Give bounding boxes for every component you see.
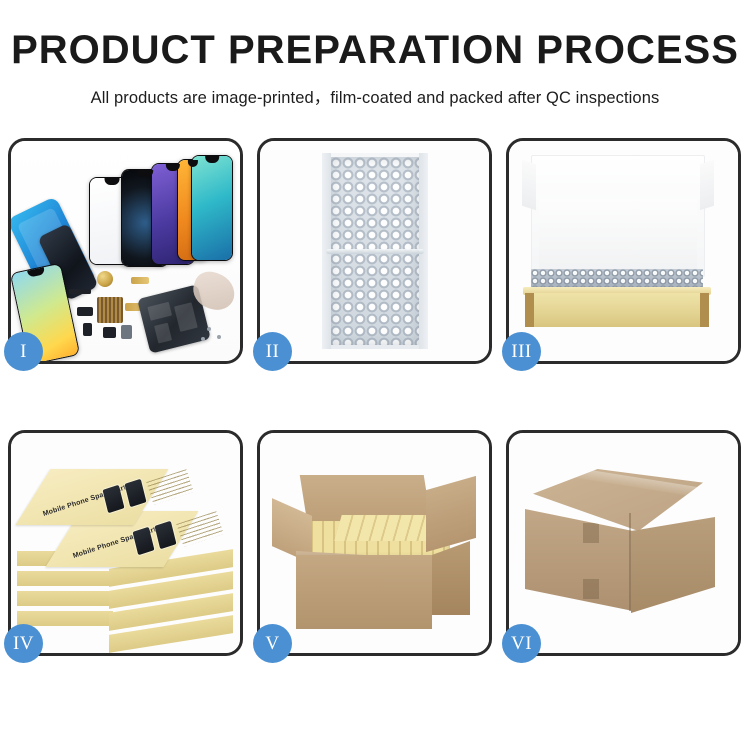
- screw-2: [217, 335, 221, 339]
- product-preparation-infographic: PRODUCT PREPARATION PROCESS All products…: [0, 0, 750, 750]
- part-camera-module: [77, 307, 93, 316]
- step-image-sealed-carton: [509, 433, 738, 653]
- phone-teal: [191, 155, 233, 261]
- step-badge-3: III: [502, 332, 541, 371]
- step-panel-1[interactable]: I: [8, 138, 243, 364]
- bubble-wrap-pouch: [322, 153, 428, 349]
- page-subtitle: All products are image-printed，film-coat…: [0, 84, 750, 108]
- carton-flap-tab-top: [583, 523, 599, 543]
- sealed-shipping-carton: [525, 469, 721, 623]
- part-coin-connector: [97, 271, 113, 287]
- step-badge-6: VI: [502, 624, 541, 663]
- step-image-carton-filling: [260, 433, 489, 653]
- carton-tape-seam: [559, 465, 709, 498]
- step-image-products: [11, 141, 240, 361]
- foam-padding: [539, 199, 697, 273]
- box-front-yellow: [525, 293, 709, 327]
- step-image-bubble-pouch: [260, 141, 489, 361]
- step-image-stacked-boxes: Mobile Phone Spare Parts Mobile Phone Sp…: [11, 433, 240, 653]
- stack-box-edge-2: [17, 571, 113, 586]
- stack-box-edge-3: [17, 591, 113, 606]
- part-grid-module: [97, 297, 123, 323]
- step-badge-2: II: [253, 332, 292, 371]
- step-panel-4[interactable]: Mobile Phone Spare Parts Mobile Phone Sp…: [8, 430, 243, 656]
- step-panel-5[interactable]: V: [257, 430, 492, 656]
- step-badge-1: I: [4, 332, 43, 371]
- screw-3: [201, 337, 205, 341]
- step-panel-6[interactable]: VI: [506, 430, 741, 656]
- stack-box-edge-4: [17, 611, 113, 626]
- step-badge-5: V: [253, 624, 292, 663]
- carton-flap-tab-bottom: [583, 579, 599, 599]
- part-bracket: [121, 325, 132, 339]
- part-strip: [69, 289, 91, 294]
- carton-right-panel: [631, 517, 715, 613]
- process-steps-grid: I II III: [8, 138, 742, 656]
- carton-corner-seam: [629, 513, 631, 611]
- part-vibrator: [103, 327, 116, 338]
- part-flex-cable: [131, 277, 149, 284]
- carton-front-face: [296, 555, 432, 629]
- retail-box-stack: Mobile Phone Spare Parts Mobile Phone Sp…: [17, 455, 235, 645]
- pouch-seal: [326, 249, 424, 254]
- page-title: PRODUCT PREPARATION PROCESS: [0, 30, 750, 70]
- step-image-inner-box: [509, 141, 738, 361]
- carton-flap-right: [426, 476, 476, 552]
- header: PRODUCT PREPARATION PROCESS All products…: [0, 0, 750, 108]
- open-shipping-carton: [274, 463, 472, 629]
- screw-1: [207, 327, 211, 331]
- part-speaker: [83, 323, 92, 336]
- step-badge-4: IV: [4, 624, 43, 663]
- step-panel-3[interactable]: III: [506, 138, 741, 364]
- step-panel-2[interactable]: II: [257, 138, 492, 364]
